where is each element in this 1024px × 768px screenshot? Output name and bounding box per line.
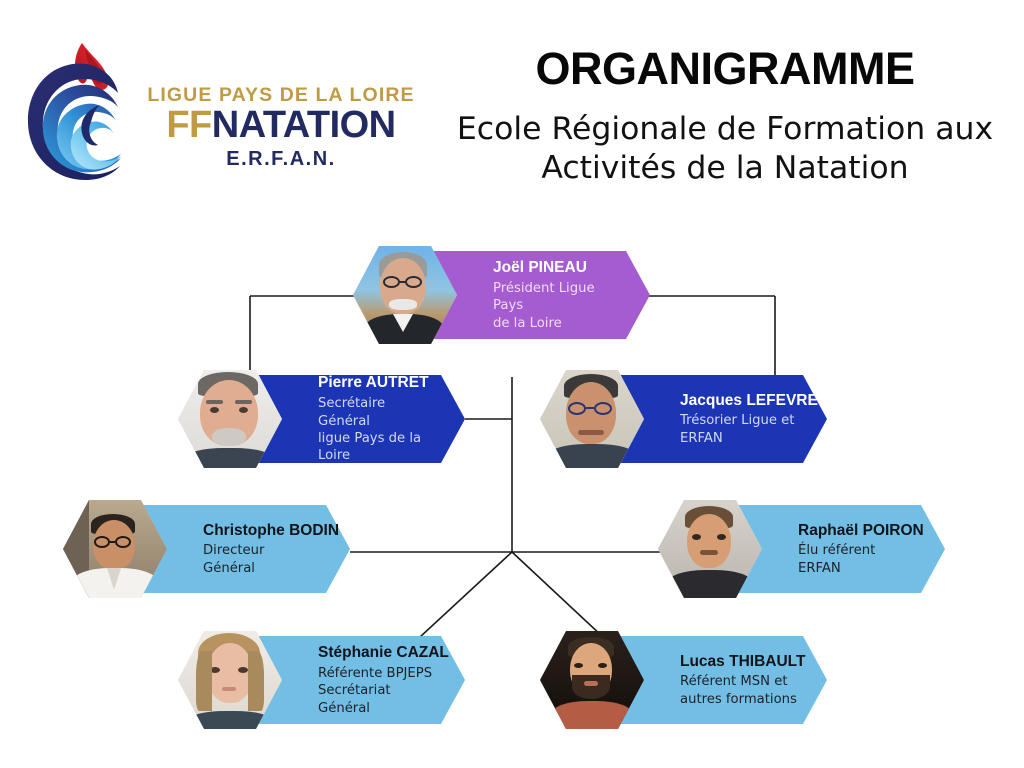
node-text-thibault: Lucas THIBAULT Référent MSN et autres fo… (680, 636, 797, 724)
node-text-cazal: Stéphanie CAZAL Référente BPJEPS Secréta… (318, 636, 435, 724)
node-role-line: ligue Pays de la Loire (318, 430, 435, 465)
node-text-autret: Pierre AUTRET Secrétaire Général ligue P… (318, 375, 435, 463)
org-chart: Joël PINEAU Président Ligue Pays de la L… (0, 0, 1024, 768)
node-role-line: Référente BPJEPS (318, 665, 435, 682)
edge-hub-cazal (420, 552, 512, 637)
org-node-autret[interactable]: Pierre AUTRET Secrétaire Général ligue P… (200, 375, 465, 463)
node-role-lefevre: Trésorier Ligue et ERFAN (680, 412, 797, 447)
node-name-poiron: Raphaël POIRON (798, 521, 915, 541)
node-role-line: Référent MSN et (680, 673, 797, 690)
org-node-lefevre[interactable]: Jacques LEFEVRE Trésorier Ligue et ERFAN (562, 375, 827, 463)
node-role-cazal: Référente BPJEPS Secrétariat Général (318, 665, 435, 717)
node-role-line: Président Ligue Pays (493, 280, 620, 315)
node-role-autret: Secrétaire Général ligue Pays de la Loir… (318, 395, 435, 465)
node-name-autret: Pierre AUTRET (318, 373, 435, 393)
node-role-thibault: Référent MSN et autres formations (680, 673, 797, 708)
node-text-poiron: Raphaël POIRON Élu référent ERFAN (798, 505, 915, 593)
node-role-line: ERFAN (680, 430, 797, 447)
org-node-thibault[interactable]: Lucas THIBAULT Référent MSN et autres fo… (562, 636, 827, 724)
org-node-cazal[interactable]: Stéphanie CAZAL Référente BPJEPS Secréta… (200, 636, 465, 724)
node-name-lefevre: Jacques LEFEVRE (680, 391, 797, 411)
node-name-thibault: Lucas THIBAULT (680, 652, 797, 672)
node-role-line: Secrétaire Général (318, 395, 435, 430)
org-node-bodin[interactable]: Christophe BODIN Directeur Général (85, 505, 350, 593)
node-role-line: Trésorier Ligue et (680, 412, 797, 429)
organigramme-poster: LIGUE PAYS DE LA LOIRE FFNATATION E.R.F.… (0, 0, 1024, 768)
org-node-pineau[interactable]: Joël PINEAU Président Ligue Pays de la L… (375, 251, 650, 339)
node-text-bodin: Christophe BODIN Directeur Général (203, 505, 320, 593)
org-node-poiron[interactable]: Raphaël POIRON Élu référent ERFAN (680, 505, 945, 593)
node-role-line: Directeur Général (203, 542, 320, 577)
node-name-cazal: Stéphanie CAZAL (318, 643, 435, 663)
node-role-line: autres formations (680, 691, 797, 708)
node-name-bodin: Christophe BODIN (203, 521, 320, 541)
node-role-line: de la Loire (493, 315, 620, 332)
node-text-lefevre: Jacques LEFEVRE Trésorier Ligue et ERFAN (680, 375, 797, 463)
node-role-line: Élu référent ERFAN (798, 542, 915, 577)
node-text-pineau: Joël PINEAU Président Ligue Pays de la L… (493, 251, 620, 339)
node-role-bodin: Directeur Général (203, 542, 320, 577)
node-role-line: Secrétariat Général (318, 682, 435, 717)
org-chart-connectors (0, 0, 1024, 768)
edge-hub-thibault (512, 552, 603, 637)
node-name-pineau: Joël PINEAU (493, 258, 620, 278)
node-role-pineau: Président Ligue Pays de la Loire (493, 280, 620, 332)
node-role-poiron: Élu référent ERFAN (798, 542, 915, 577)
